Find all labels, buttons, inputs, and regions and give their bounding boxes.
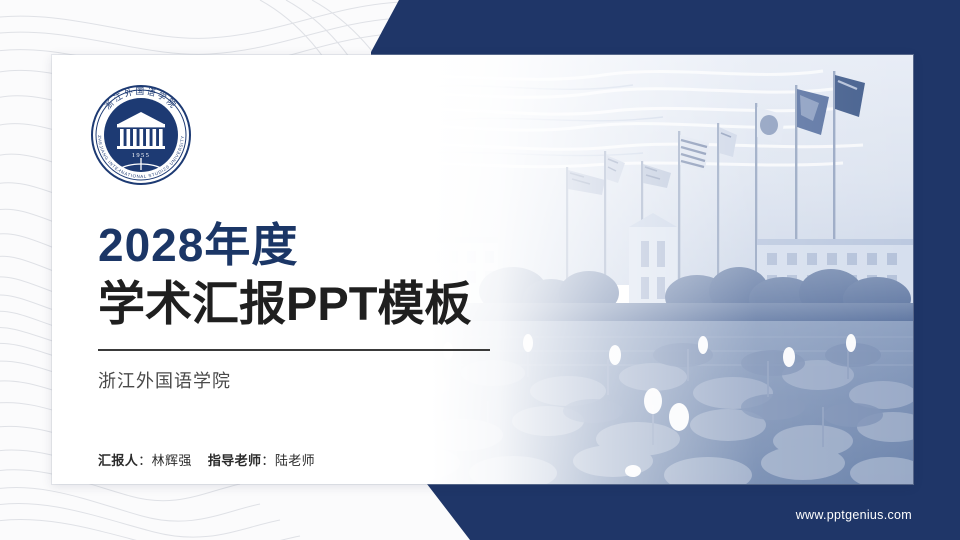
subtitle-institution: 浙江外国语学院 bbox=[98, 367, 518, 393]
presentation-slide: 浙江外国语学院 ZHEJIANG INTERNATIONAL STUDIES U… bbox=[0, 0, 960, 540]
svg-text:1955: 1955 bbox=[132, 152, 151, 159]
site-watermark: www.pptgenius.com bbox=[796, 508, 912, 522]
title-year: 2028年度 bbox=[98, 218, 518, 272]
advisor-name: 陆老师 bbox=[275, 453, 315, 468]
title-block: 2028年度 学术汇报PPT模板 浙江外国语学院 bbox=[98, 218, 518, 393]
title-divider bbox=[98, 349, 490, 351]
reporter-separator: ： bbox=[138, 453, 151, 468]
reporter-label: 汇报人 bbox=[98, 453, 138, 468]
reporter-name: 林辉强 bbox=[152, 453, 192, 468]
advisor-separator: ： bbox=[261, 453, 274, 468]
title-main: 学术汇报PPT模板 bbox=[98, 276, 518, 332]
university-logo: 浙江外国语学院 ZHEJIANG INTERNATIONAL STUDIES U… bbox=[88, 82, 194, 188]
presenter-line: 汇报人：林辉强指导老师：陆老师 bbox=[98, 450, 315, 469]
advisor-label: 指导老师 bbox=[208, 453, 262, 468]
